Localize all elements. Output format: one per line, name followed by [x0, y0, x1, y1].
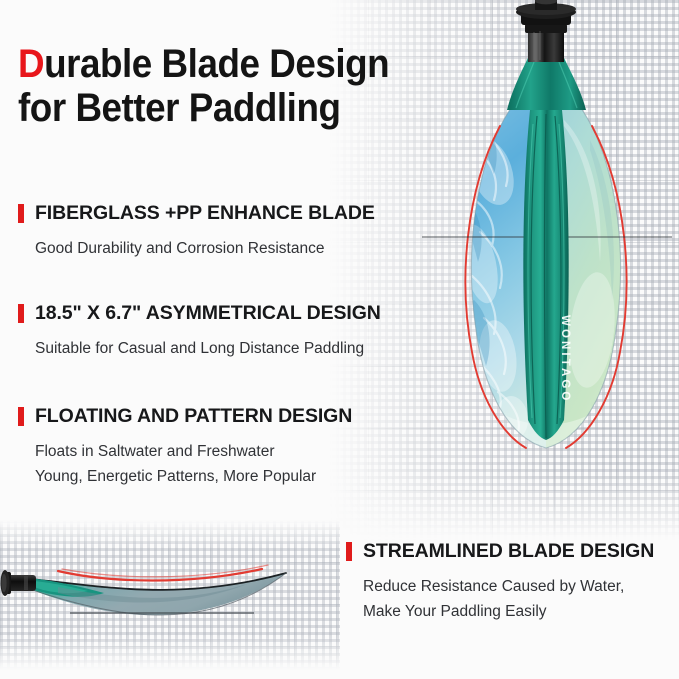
headline-line-2: for Better Paddling: [18, 86, 386, 130]
feature-subtext-line-1: Reduce Resistance Caused by Water,: [346, 574, 676, 599]
feature-subtext-line-2: Make Your Paddling Easily: [346, 599, 676, 624]
feature-title-row: STREAMLINED BLADE DESIGN: [346, 540, 676, 563]
feature-title-row: FLOATING AND PATTERN DESIGN: [18, 405, 408, 428]
headline-line-1-rest: urable Blade Design: [44, 42, 389, 86]
feature-title-text: FIBERGLASS +PP ENHANCE BLADE: [35, 202, 375, 225]
bullet-marker-icon: [346, 542, 352, 561]
feature-subtext-line-1: Floats in Saltwater and Freshwater: [18, 439, 408, 464]
bullet-marker-icon: [18, 407, 24, 426]
blade-spine: [523, 110, 568, 440]
product-feature-infographic: Durable Blade Design for Better Paddling…: [0, 0, 679, 679]
bullet-marker-icon: [18, 204, 24, 223]
page-title: Durable Blade Design for Better Paddling: [18, 42, 418, 130]
paddle-shaft: [516, 0, 576, 62]
red-curve-accent-secondary: [62, 565, 268, 577]
feature-subtext-line-1: Suitable for Casual and Long Distance Pa…: [18, 336, 408, 361]
blade-profile-shape: [30, 573, 286, 615]
feature-block-floating-pattern: FLOATING AND PATTERN DESIGN Floats in Sa…: [18, 405, 408, 489]
feature-title-text: FLOATING AND PATTERN DESIGN: [35, 405, 352, 428]
feature-title-text: STREAMLINED BLADE DESIGN: [363, 540, 654, 563]
feature-subtext-line-1: Good Durability and Corrosion Resistance: [18, 236, 408, 261]
red-curve-accent: [58, 569, 262, 581]
feature-title-row: FIBERGLASS +PP ENHANCE BLADE: [18, 202, 408, 225]
blade-neck: [507, 58, 586, 110]
feature-subtext-line-2: Young, Energetic Patterns, More Popular: [18, 464, 408, 489]
paddle-blade-front-image: [414, 0, 679, 500]
profile-shaft-end: [1, 570, 37, 596]
feature-block-asymmetrical: 18.5" X 6.7" ASYMMETRICAL DESIGN Suitabl…: [18, 302, 408, 361]
feature-title-text: 18.5" X 6.7" ASYMMETRICAL DESIGN: [35, 302, 381, 325]
bullet-marker-icon: [18, 304, 24, 323]
feature-block-fiberglass: FIBERGLASS +PP ENHANCE BLADE Good Durabi…: [18, 202, 408, 261]
headline-line-1: Durable Blade Design: [18, 42, 386, 86]
feature-block-streamlined: STREAMLINED BLADE DESIGN Reduce Resistan…: [346, 540, 676, 624]
paddle-blade-profile-image: [0, 545, 340, 665]
headline-accent-letter: D: [18, 42, 44, 86]
feature-title-row: 18.5" X 6.7" ASYMMETRICAL DESIGN: [18, 302, 408, 325]
